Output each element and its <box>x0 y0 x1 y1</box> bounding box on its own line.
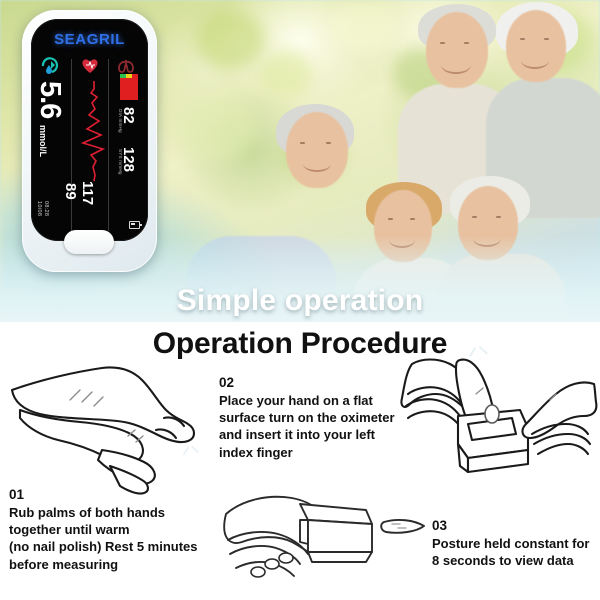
hands-rubbing-palms-illustration <box>6 358 218 498</box>
heart-rate-value-1: 117 <box>80 181 95 205</box>
bokeh-leaf <box>330 0 396 52</box>
procedure-section: Operation Procedure ᐟᐠ ᐟᐠ ᐟᐠ <box>0 322 600 600</box>
bp-systolic-label: SYS mmHg <box>117 149 122 175</box>
bp-systolic-value: 128 <box>121 147 136 172</box>
step-01-text-block: 01 Rub palms of both hands together unti… <box>9 487 221 573</box>
device-screen: SEAGRIL 5.6 mm <box>31 19 148 241</box>
glucose-date: 10/08 <box>36 201 42 216</box>
hero-photo-section: SEAGRIL 5.6 mm <box>0 0 600 322</box>
bp-diastolic-value: 82 <box>121 107 136 124</box>
bp-diastolic-label: DIA mmHg <box>117 109 122 133</box>
battery-icon <box>129 221 140 229</box>
bokeh-leaf <box>195 10 265 68</box>
step-02-text-block: 02 Place your hand on a flat surface tur… <box>219 375 409 461</box>
simple-operation-banner: Simple operation <box>0 284 600 318</box>
glucose-drop-icon <box>35 57 71 77</box>
device-brand-logo: SEAGRIL <box>31 31 148 48</box>
bp-level-bar <box>120 78 138 100</box>
step-02-number: 02 <box>219 375 409 392</box>
step-01-description: Rub palms of both hands together until w… <box>9 504 221 573</box>
glucose-unit: mmol/L <box>38 125 47 157</box>
step-01-number: 01 <box>9 487 221 504</box>
inserting-finger-into-oximeter-illustration <box>398 354 598 494</box>
device-readout-panels: 5.6 mmol/L 08:28 10/08 <box>35 55 144 235</box>
glucose-time: 08:28 <box>43 201 49 216</box>
panel-glucose: 5.6 mmol/L 08:28 10/08 <box>35 55 71 235</box>
step-02-description: Place your hand on a flat surface turn o… <box>219 392 409 461</box>
heart-rate-value-2: 89 <box>63 183 78 200</box>
bokeh-leaf <box>258 52 312 98</box>
panel-divider <box>71 59 72 231</box>
step-03-number: 03 <box>432 518 598 535</box>
step-03-description: Posture held constant for 8 seconds to v… <box>432 535 598 570</box>
glucose-value: 5.6 <box>35 81 64 118</box>
device-power-button[interactable] <box>64 230 114 254</box>
panel-heart-rate: 117 89 <box>73 55 107 235</box>
step-03-text-block: 03 Posture held constant for 8 seconds t… <box>432 518 598 569</box>
heart-icon <box>73 57 107 77</box>
hand-holding-still-with-oximeter-illustration <box>216 484 428 596</box>
product-marketing-image: SEAGRIL 5.6 mm <box>0 0 600 600</box>
pulse-oximeter-device: SEAGRIL 5.6 mm <box>22 10 157 272</box>
ecg-waveform <box>79 81 109 181</box>
panel-blood-pressure: 82 DIA mmHg 128 SYS mmHg <box>110 55 144 235</box>
